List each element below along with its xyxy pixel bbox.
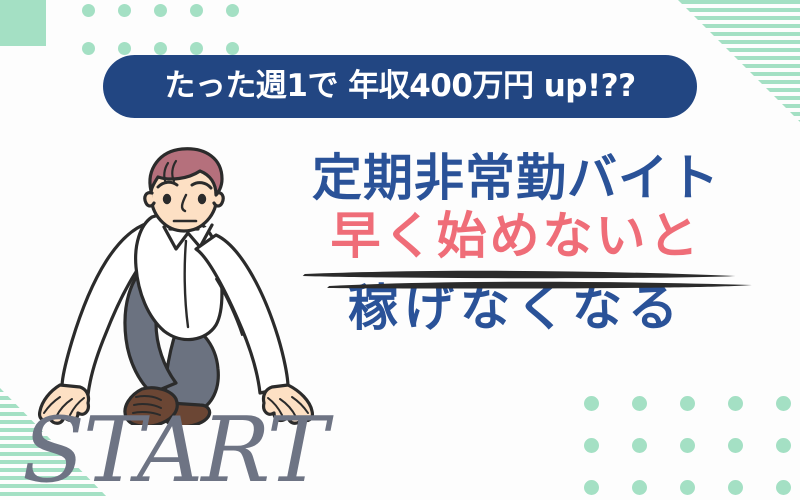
dot	[226, 42, 239, 55]
headline-banner: たった週1で 年収400万円 up!??	[103, 55, 697, 118]
main-copy-block: 定期非常勤バイト 早く始めないと 稼げなくなる	[262, 152, 770, 334]
dot	[776, 396, 791, 411]
dot	[584, 438, 599, 453]
dot	[680, 396, 695, 411]
dot	[226, 4, 239, 17]
dot	[118, 42, 131, 55]
headline-banner-text: たった週1で 年収400万円 up!??	[164, 71, 635, 102]
dot	[728, 438, 743, 453]
dot	[728, 396, 743, 411]
dot	[154, 4, 167, 17]
dot	[632, 396, 647, 411]
headline-line-2: 早く始めないと	[262, 210, 770, 262]
dot	[584, 396, 599, 411]
dot	[776, 480, 791, 495]
dot	[190, 4, 203, 17]
headline-line-2-wrapper: 早く始めないと	[262, 210, 770, 262]
dot	[190, 42, 203, 55]
dot	[82, 4, 95, 17]
dot	[584, 480, 599, 495]
poster-canvas: たった週1で 年収400万円 up!?? 定期非常勤バイト 早く始めないと 稼げ…	[0, 0, 800, 500]
headline-line-1: 定期非常勤バイト	[262, 152, 770, 204]
dot	[680, 480, 695, 495]
hand-drawn-underline	[258, 267, 766, 291]
dot	[82, 42, 95, 55]
dot-grid-bottom-right	[584, 396, 800, 500]
dot	[118, 4, 131, 17]
dot	[632, 438, 647, 453]
dot	[728, 480, 743, 495]
start-wordmark: START	[22, 406, 326, 496]
dot	[154, 42, 167, 55]
dot	[776, 438, 791, 453]
dot	[680, 438, 695, 453]
mint-square-decoration	[0, 0, 46, 46]
dot	[632, 480, 647, 495]
